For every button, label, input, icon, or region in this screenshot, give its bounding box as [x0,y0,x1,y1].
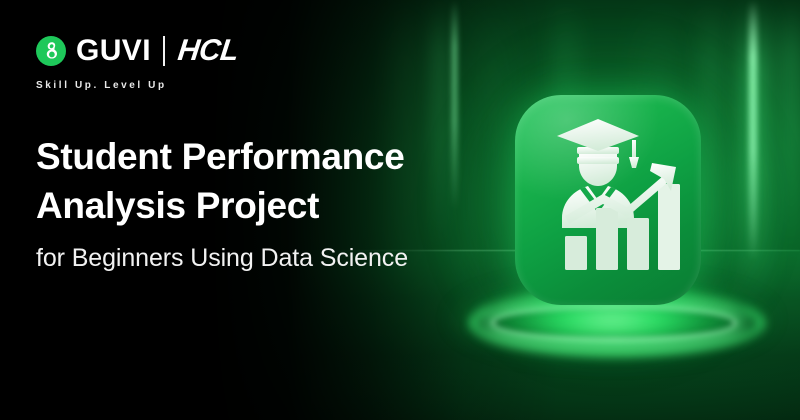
page-title: Student Performance Analysis Project [36,133,506,231]
bar-3 [627,218,649,270]
tassel-icon [632,140,636,158]
icon-base-ring-highlight [492,306,736,340]
headline-line-2: Analysis Project [36,182,506,231]
icon-artwork [515,95,701,305]
brand-tagline: Skill Up. Level Up [36,80,167,91]
page-subtitle: for Beginners Using Data Science [36,244,408,273]
brand-divider [163,36,165,66]
student-performance-analytics-icon [515,95,701,305]
headline-line-1: Student Performance [36,133,506,182]
bar-1 [565,236,587,270]
brand-lockup: GUVI HCL [36,36,238,66]
promo-banner: GUVI HCL Skill Up. Level Up Student Perf… [0,0,800,420]
guvi-wordmark: GUVI [76,36,151,66]
bar-2 [596,208,618,270]
bar-4 [658,184,680,270]
guvi-g-mark-icon [36,36,66,66]
mortarboard-cap-icon [557,119,639,151]
hcl-wordmark: HCL [176,36,240,66]
